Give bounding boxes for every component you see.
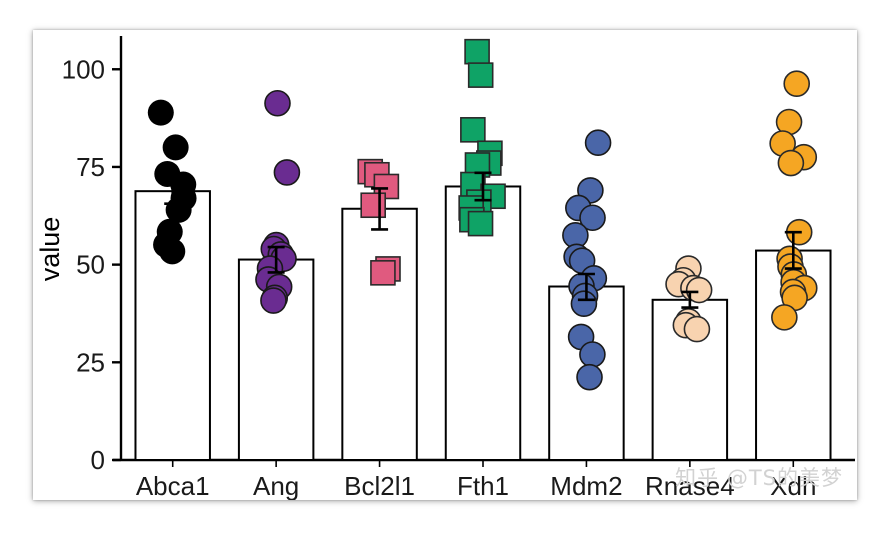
y-tick-label: 25: [76, 347, 105, 377]
data-point: [261, 288, 286, 313]
bar-chart-with-dotplot: 0255075100valueAbca1AngBcl2l1Fth1Mdm2Rna…: [33, 30, 857, 500]
data-point: [469, 212, 493, 236]
y-axis-title: value: [35, 217, 65, 282]
data-point: [274, 160, 299, 185]
data-point: [684, 317, 709, 342]
y-tick-label: 0: [91, 445, 105, 475]
data-point: [469, 63, 493, 87]
data-point: [784, 71, 809, 96]
data-point: [772, 305, 797, 330]
bar-bcl2l1: [342, 209, 416, 460]
data-point: [371, 261, 395, 285]
y-tick-label: 100: [62, 54, 105, 84]
y-tick-label: 75: [76, 152, 105, 182]
x-tick-label-abca1: Abca1: [136, 471, 210, 500]
data-point: [148, 100, 174, 126]
data-point: [361, 193, 385, 217]
y-tick-label: 50: [76, 250, 105, 280]
data-point: [265, 91, 290, 116]
data-point: [163, 134, 189, 160]
data-point: [465, 40, 489, 64]
x-tick-label-bcl2l1: Bcl2l1: [344, 471, 415, 500]
x-tick-label-ang: Ang: [253, 471, 299, 500]
figure-panel: 0255075100valueAbca1AngBcl2l1Fth1Mdm2Rna…: [33, 30, 857, 500]
data-point: [577, 365, 602, 390]
data-point: [778, 151, 803, 176]
x-tick-label-mdm2: Mdm2: [550, 471, 622, 500]
x-tick-label-fth1: Fth1: [457, 471, 509, 500]
data-point: [571, 291, 596, 316]
data-point: [586, 130, 611, 155]
data-point: [580, 342, 605, 367]
data-point: [159, 238, 185, 264]
watermark-text: 知乎 @TS的美梦: [675, 462, 843, 492]
data-point: [461, 118, 485, 142]
